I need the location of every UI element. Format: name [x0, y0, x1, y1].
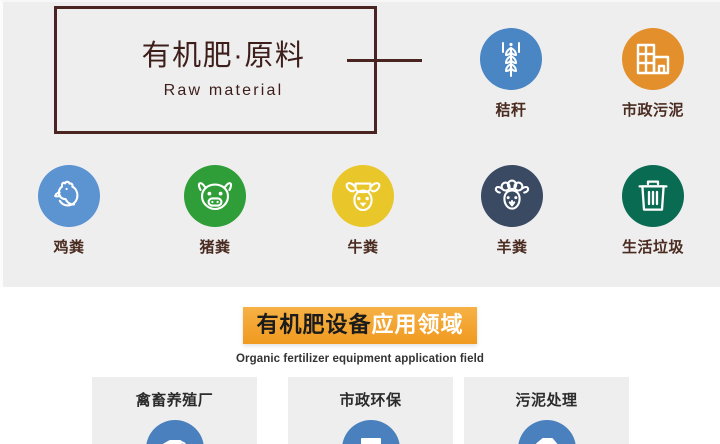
chicken-icon — [38, 165, 100, 227]
trash-icon — [622, 165, 684, 227]
municipal-icon — [342, 420, 400, 444]
application-banner: 有机肥设备应用领域 — [243, 307, 476, 344]
product-detail-page: 有机肥·原料 Raw material — [0, 0, 720, 444]
raw-material-label: 鸡粪 — [19, 236, 119, 257]
sheep-icon — [481, 165, 543, 227]
banner-text-light: 应用领域 — [372, 312, 464, 337]
banner-text-dark: 有机肥设备 — [256, 312, 371, 337]
raw-material-item-sheep[interactable]: 羊粪 — [462, 165, 562, 257]
raw-material-label: 生活垃圾 — [603, 236, 703, 257]
application-card-municipal[interactable]: 市政环保 — [288, 377, 453, 444]
headline-box: 有机肥·原料 Raw material — [54, 6, 377, 134]
raw-material-item-cow[interactable]: 牛粪 — [313, 165, 413, 257]
raw-material-label: 羊粪 — [462, 236, 562, 257]
card-title: 污泥处理 — [464, 389, 629, 410]
card-title: 禽畜养殖厂 — [92, 389, 257, 410]
application-field-section: 有机肥设备应用领域 Organic fertilizer equipment a… — [0, 287, 720, 444]
cow-icon — [332, 165, 394, 227]
pig-icon — [184, 165, 246, 227]
building-icon — [622, 28, 684, 90]
headline-title-cn: 有机肥·原料 — [142, 40, 306, 73]
raw-material-item-sludge[interactable]: 市政污泥 — [603, 28, 703, 120]
livestock-icon — [146, 420, 204, 444]
raw-material-label: 市政污泥 — [603, 99, 703, 120]
raw-material-item-chicken[interactable]: 鸡粪 — [19, 165, 119, 257]
application-card-sludge[interactable]: 污泥处理 — [464, 377, 629, 444]
raw-material-label: 牛粪 — [313, 236, 413, 257]
headline-rule — [347, 59, 422, 62]
raw-material-item-garbage[interactable]: 生活垃圾 — [603, 165, 703, 257]
raw-material-item-straw[interactable]: 秸秆 — [461, 28, 561, 120]
application-cards: 禽畜养殖厂 市政环保 污泥处理 — [0, 377, 720, 444]
application-banner-wrap: 有机肥设备应用领域 Organic fertilizer equipment a… — [0, 307, 720, 365]
raw-material-item-pig[interactable]: 猪粪 — [165, 165, 265, 257]
raw-material-label: 猪粪 — [165, 236, 265, 257]
headline-title-en: Raw material — [164, 82, 284, 100]
card-title: 市政环保 — [288, 389, 453, 410]
sludge-icon — [518, 420, 576, 444]
wheat-straw-icon — [480, 28, 542, 90]
application-card-livestock[interactable]: 禽畜养殖厂 — [92, 377, 257, 444]
application-subtitle: Organic fertilizer equipment application… — [0, 353, 720, 365]
raw-material-section: 有机肥·原料 Raw material — [0, 0, 720, 287]
raw-material-label: 秸秆 — [461, 99, 561, 120]
